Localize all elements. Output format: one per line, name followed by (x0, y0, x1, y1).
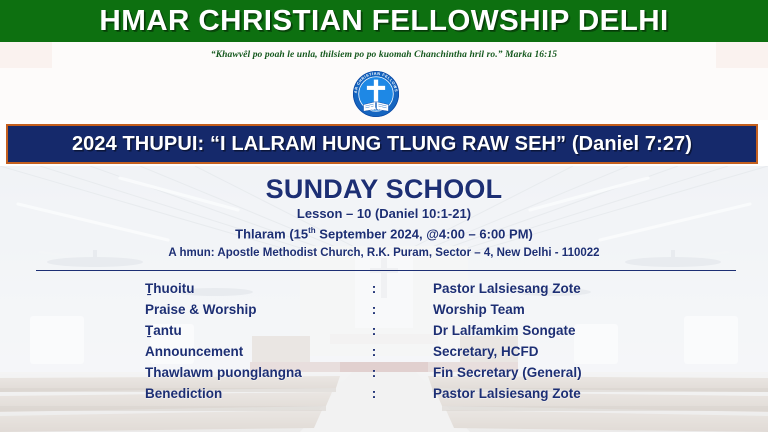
annual-theme-text: 2024 THUPUI: “I LALRAM HUNG TLUNG RAW SE… (72, 133, 692, 156)
poster-root: HMAR CHRISTIAN FELLOWSHIP DELHI “Khawvêl… (0, 0, 768, 432)
annual-theme-banner: 2024 THUPUI: “I LALRAM HUNG TLUNG RAW SE… (6, 124, 758, 164)
program-separator: : (363, 386, 385, 401)
program-separator: : (363, 323, 385, 338)
program-separator: : (363, 344, 385, 359)
program-item-value: Dr Lalfamkim Songate (385, 323, 768, 338)
organization-title: HMAR CHRISTIAN FELLOWSHIP DELHI (99, 5, 668, 38)
program-item-label: Benediction (145, 386, 363, 401)
program-item-label: Announcement (145, 344, 363, 359)
program-separator: : (363, 365, 385, 380)
program-item-label: Ṯhuoitu (145, 281, 363, 296)
venue-line: A hmun: Apostle Methodist Church, R.K. P… (0, 247, 768, 259)
header-bar: HMAR CHRISTIAN FELLOWSHIP DELHI (0, 0, 768, 42)
program-list: Ṯhuoitu:Pastor Lalsiesang ZotePraise & W… (0, 278, 768, 404)
program-separator: : (363, 302, 385, 317)
main-content: SUNDAY SCHOOL Lesson – 10 (Daniel 10:1-2… (0, 166, 768, 432)
program-item-value: Pastor Lalsiesang Zote (385, 281, 768, 296)
verse-strip: “Khawvêl po poah le unla, thilsiem po po… (52, 42, 716, 68)
program-item-value: Worship Team (385, 302, 768, 317)
hcfd-emblem-logo: HMAR CHRISTIAN FELLOWSHIP DELHI (352, 70, 400, 118)
date-time-prefix: Thlaram (15 (235, 226, 308, 241)
program-item-value: Pastor Lalsiesang Zote (385, 386, 768, 401)
page-title: SUNDAY SCHOOL (0, 174, 768, 205)
date-ordinal-suffix: th (308, 226, 316, 235)
program-item-value: Fin Secretary (General) (385, 365, 768, 380)
program-separator: : (363, 281, 385, 296)
date-time-suffix: September 2024, @4:00 – 6:00 PM) (316, 226, 533, 241)
program-row: Benediction:Pastor Lalsiesang Zote (0, 383, 768, 404)
program-row: Ṯhuoitu:Pastor Lalsiesang Zote (0, 278, 768, 299)
program-item-label: Thawlawm puonglangna (145, 365, 363, 380)
section-divider (36, 270, 736, 271)
lesson-line: Lesson – 10 (Daniel 10:1-21) (0, 206, 768, 221)
program-row: Thawlawm puonglangna:Fin Secretary (Gene… (0, 362, 768, 383)
program-item-label: Praise & Worship (145, 302, 363, 317)
program-row: Praise & Worship:Worship Team (0, 299, 768, 320)
program-row: Announcement:Secretary, HCFD (0, 341, 768, 362)
scripture-verse: “Khawvêl po poah le unla, thilsiem po po… (211, 50, 557, 60)
program-item-value: Secretary, HCFD (385, 344, 768, 359)
program-item-label: Ṯantu (145, 323, 363, 338)
program-row: Ṯantu:Dr Lalfamkim Songate (0, 320, 768, 341)
date-time-line: Thlaram (15th September 2024, @4:00 – 6:… (0, 226, 768, 241)
